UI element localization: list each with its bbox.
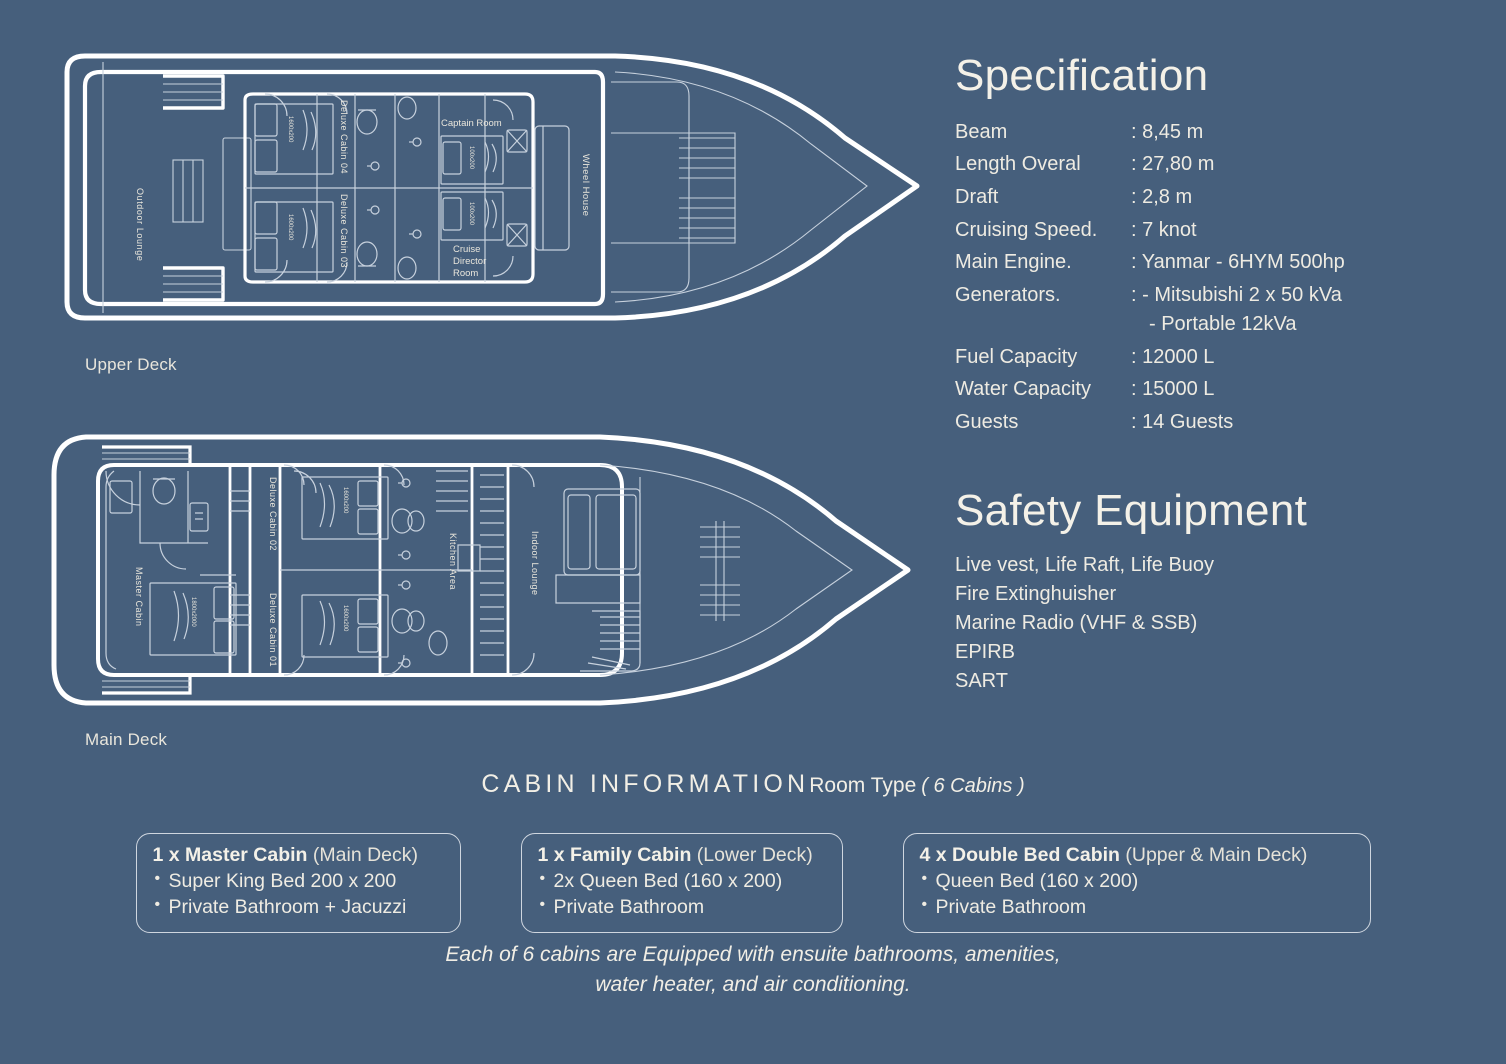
spec-value-fuel-capacity: : 12000 L [1131, 341, 1345, 374]
safety-item-4: SART [955, 667, 1475, 696]
cabin-cards: 1 x Master Cabin (Main Deck) Super King … [0, 833, 1506, 933]
spec-label-generators-secondary [955, 312, 1131, 341]
spec-label-guests: Guests [955, 406, 1131, 439]
spec-row-generators: Generators. : - Mitsubishi 2 x 50 kVa [955, 279, 1345, 312]
cabin-card-double-bed-title: 4 x Double Bed Cabin (Upper & Main Deck) [920, 843, 1354, 868]
cabin-information-count: ( 6 Cabins ) [916, 775, 1024, 797]
spec-label-main-engine: Main Engine. [955, 247, 1131, 280]
spec-label-fuel-capacity: Fuel Capacity [955, 341, 1131, 374]
cabin-card-master: 1 x Master Cabin (Main Deck) Super King … [136, 833, 461, 933]
spec-row-cruising-speed: Cruising Speed. : 7 knot [955, 214, 1345, 247]
spec-label-draft: Draft [955, 182, 1131, 215]
spec-row-beam: Beam : 8,45 m [955, 116, 1345, 149]
spec-label-beam: Beam [955, 116, 1131, 149]
spec-value-generators-secondary: - Portable 12kVa [1131, 312, 1345, 341]
cabin-card-master-feature-1: Private Bathroom + Jacuzzi [153, 895, 444, 921]
main-deck-plan: Master Cabin Deluxe Cabin 02 Deluxe Cabi… [40, 425, 920, 715]
specification-table: Beam : 8,45 m Length Overal : 27,80 m Dr… [955, 116, 1345, 438]
safety-item-2: Marine Radio (VHF & SSB) [955, 609, 1475, 638]
spec-row-main-engine: Main Engine. : Yanmar - 6HYM 500hp [955, 247, 1345, 280]
cabin-card-double-bed-deck: (Upper & Main Deck) [1120, 844, 1307, 866]
spec-label-length-overal: Length Overal [955, 149, 1131, 182]
main-deck-drawing: Master Cabin Deluxe Cabin 02 Deluxe Cabi… [40, 425, 920, 715]
spec-row-length-overal: Length Overal : 27,80 m [955, 149, 1345, 182]
upper-label-cruise-director-room-line3: Room [453, 268, 478, 279]
upper-label-captain-room: Captain Room [441, 118, 502, 129]
cabin-information-subtitle: Room Type [809, 774, 916, 797]
spec-row-fuel-capacity: Fuel Capacity : 12000 L [955, 341, 1345, 374]
cabin-card-family-deck: (Lower Deck) [691, 844, 812, 866]
cabin-card-master-title: 1 x Master Cabin (Main Deck) [153, 843, 444, 868]
safety-item-3: EPIRB [955, 638, 1475, 667]
spec-value-guests: : 14 Guests [1131, 406, 1345, 439]
right-column: Specification Beam : 8,45 m Length Overa… [955, 52, 1475, 696]
upper-label-cruise-director-room-line1: Cruise [453, 244, 480, 255]
spec-label-cruising-speed: Cruising Speed. [955, 214, 1131, 247]
upper-deck-caption: Upper Deck [85, 355, 177, 375]
spec-value-water-capacity: : 15000 L [1131, 374, 1345, 407]
upper-dim-cabin03: 1600x200 [287, 214, 293, 241]
spec-value-generators: : - Mitsubishi 2 x 50 kVa [1131, 279, 1345, 312]
cabin-card-double-bed-features: Queen Bed (160 x 200) Private Bathroom [920, 869, 1354, 920]
upper-label-deluxe-cabin-04: Deluxe Cabin 04 [339, 100, 349, 174]
spec-value-main-engine: : Yanmar - 6HYM 500hp [1131, 247, 1345, 280]
spec-row-water-capacity: Water Capacity : 15000 L [955, 374, 1345, 407]
cabin-card-master-count: 1 x Master Cabin [153, 844, 308, 866]
spec-label-generators: Generators. [955, 279, 1131, 312]
upper-deck-drawing: Outdoor Lounge Deluxe Cabin 04 Deluxe Ca… [55, 38, 935, 338]
upper-label-wheel-house: Wheel House [580, 154, 591, 217]
cabin-information-heading: CABIN INFORMATIONRoom Type( 6 Cabins ) [0, 770, 1506, 799]
spec-value-cruising-speed: : 7 knot [1131, 214, 1345, 247]
main-label-deluxe-cabin-02: Deluxe Cabin 02 [268, 477, 278, 551]
main-dim-master-bed: 1800x2000 [190, 597, 196, 627]
upper-dim-cabin04: 1600x200 [287, 116, 293, 143]
upper-label-deluxe-cabin-03: Deluxe Cabin 03 [339, 194, 349, 268]
cabin-footnote-line-1: Each of 6 cabins are Equipped with ensui… [0, 940, 1506, 970]
cabin-card-double-bed-count: 4 x Double Bed Cabin [920, 844, 1120, 866]
cabin-footnote: Each of 6 cabins are Equipped with ensui… [0, 940, 1506, 1001]
upper-dim-director: 100x200 [468, 202, 474, 226]
cabin-card-master-deck: (Main Deck) [307, 844, 418, 866]
safety-equipment-list: Live vest, Life Raft, Life Buoy Fire Ext… [955, 551, 1475, 696]
main-deck-caption: Main Deck [85, 730, 167, 750]
main-label-deluxe-cabin-01: Deluxe Cabin 01 [268, 593, 278, 667]
cabin-card-family-title: 1 x Family Cabin (Lower Deck) [538, 843, 826, 868]
cabin-card-double-bed: 4 x Double Bed Cabin (Upper & Main Deck)… [903, 833, 1371, 933]
cabin-card-double-bed-feature-0: Queen Bed (160 x 200) [920, 869, 1354, 895]
safety-item-1: Fire Extinghuisher [955, 580, 1475, 609]
yacht-spec-page: Outdoor Lounge Deluxe Cabin 04 Deluxe Ca… [0, 0, 1506, 1064]
spec-row-generators-secondary: - Portable 12kVa [955, 312, 1345, 341]
cabin-card-double-bed-feature-1: Private Bathroom [920, 895, 1354, 921]
cabin-footnote-line-2: water heater, and air conditioning. [0, 970, 1506, 1000]
spec-value-draft: : 2,8 m [1131, 182, 1345, 215]
main-label-kitchen-area: Kitchen Area [448, 533, 458, 590]
cabin-card-family: 1 x Family Cabin (Lower Deck) 2x Queen B… [521, 833, 843, 933]
main-dim-cabin01-bed: 1600x200 [342, 605, 348, 632]
cabin-card-family-feature-0: 2x Queen Bed (160 x 200) [538, 869, 826, 895]
upper-label-cruise-director-room-line2: Director [453, 256, 486, 267]
main-label-master-cabin: Master Cabin [134, 567, 144, 627]
spec-value-length-overal: : 27,80 m [1131, 149, 1345, 182]
cabin-card-family-feature-1: Private Bathroom [538, 895, 826, 921]
cabin-card-family-count: 1 x Family Cabin [538, 844, 692, 866]
safety-item-0: Live vest, Life Raft, Life Buoy [955, 551, 1475, 580]
specification-title: Specification [955, 52, 1475, 100]
spec-row-draft: Draft : 2,8 m [955, 182, 1345, 215]
cabin-card-master-features: Super King Bed 200 x 200 Private Bathroo… [153, 869, 444, 920]
upper-deck-plan: Outdoor Lounge Deluxe Cabin 04 Deluxe Ca… [55, 38, 935, 338]
spec-row-guests: Guests : 14 Guests [955, 406, 1345, 439]
main-dim-cabin02-bed: 1600x200 [342, 487, 348, 514]
upper-dim-captain: 100x200 [468, 146, 474, 170]
cabin-card-family-features: 2x Queen Bed (160 x 200) Private Bathroo… [538, 869, 826, 920]
safety-equipment-title: Safety Equipment [955, 487, 1475, 535]
main-label-indoor-lounge: Indoor Lounge [530, 531, 540, 596]
cabin-card-master-feature-0: Super King Bed 200 x 200 [153, 869, 444, 895]
cabin-information-title: CABIN INFORMATION [481, 770, 809, 798]
spec-label-water-capacity: Water Capacity [955, 374, 1131, 407]
upper-label-outdoor-lounge: Outdoor Lounge [135, 188, 145, 261]
spec-value-beam: : 8,45 m [1131, 116, 1345, 149]
